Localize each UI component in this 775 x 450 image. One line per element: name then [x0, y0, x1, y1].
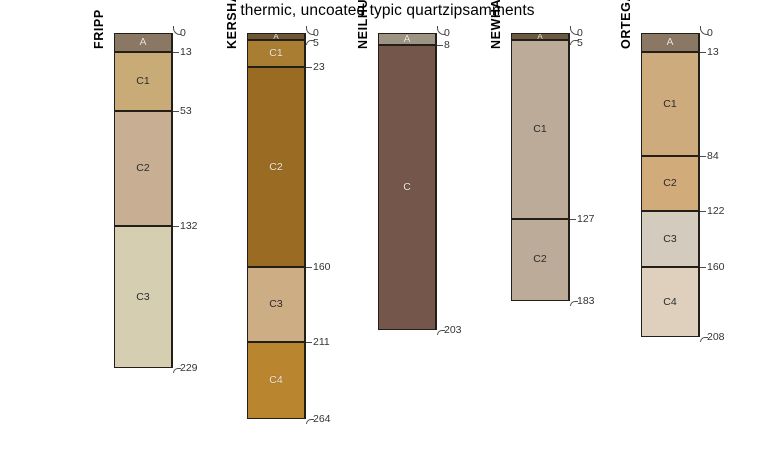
depth-tick [700, 267, 706, 268]
horizon-block[interactable]: C4 [247, 342, 305, 420]
horizon-label: A [403, 34, 410, 45]
horizon-block[interactable]: A [378, 33, 436, 45]
horizon-label: C2 [136, 163, 149, 174]
horizon-block[interactable]: C2 [641, 156, 699, 212]
horizon-label: C2 [269, 162, 282, 173]
horizon-block[interactable]: A [641, 33, 699, 52]
depth-tick-label: 53 [180, 106, 192, 117]
page-title: thermic, uncoated typic quartzipsamments [0, 2, 775, 20]
depth-axis [305, 33, 306, 419]
horizon-block[interactable]: A [247, 33, 305, 40]
depth-tick [173, 52, 179, 53]
series-name-label: ORTEGA [619, 0, 633, 49]
horizon-label: C3 [136, 292, 149, 303]
depth-tick-label: 13 [180, 47, 192, 58]
horizon-label: C1 [533, 124, 546, 135]
depth-tick-label: 5 [577, 38, 583, 49]
depth-tick-label: 0 [444, 28, 450, 39]
horizon-label: A [273, 33, 278, 40]
horizon-label: C4 [663, 297, 676, 308]
depth-tick-label: 23 [313, 62, 325, 73]
depth-axis [699, 33, 700, 337]
depth-tick-label: 208 [707, 332, 725, 343]
horizon-label: A [139, 37, 146, 48]
horizon-label: C3 [663, 234, 676, 245]
horizon-block[interactable]: C3 [247, 267, 305, 342]
depth-tick [437, 45, 443, 46]
depth-tick [306, 267, 312, 268]
depth-tick-label: 203 [444, 325, 462, 336]
depth-tick-label: 127 [577, 214, 595, 225]
horizon-label: C4 [269, 375, 282, 386]
depth-tick [173, 226, 179, 227]
horizon-label: C1 [663, 99, 676, 110]
depth-tick-label: 122 [707, 206, 725, 217]
depth-tick [700, 52, 706, 53]
horizon-block[interactable]: C1 [114, 52, 172, 111]
depth-tick-label: 5 [313, 38, 319, 49]
depth-axis [436, 33, 437, 330]
depth-tick-label: 160 [313, 262, 331, 273]
horizon-block[interactable]: C4 [641, 267, 699, 337]
horizon-block[interactable]: C2 [511, 219, 569, 301]
depth-tick-label: 8 [444, 40, 450, 51]
horizon-block[interactable]: C2 [114, 111, 172, 227]
depth-tick-label: 0 [707, 28, 713, 39]
series-name-label: NEWHAN [489, 0, 503, 49]
horizon-block[interactable]: C1 [511, 40, 569, 218]
depth-tick-label: 0 [180, 28, 186, 39]
horizon-block[interactable]: C3 [114, 226, 172, 368]
horizon-label: C1 [136, 76, 149, 87]
depth-tick-label: 13 [707, 47, 719, 58]
horizon-label: A [537, 33, 542, 40]
horizon-label: C2 [533, 254, 546, 265]
depth-axis [569, 33, 570, 301]
depth-tick [173, 111, 179, 112]
horizon-block[interactable]: C3 [641, 211, 699, 267]
horizon-block[interactable]: C [378, 45, 436, 330]
depth-tick [306, 67, 312, 68]
depth-tick-label: 84 [707, 151, 719, 162]
horizon-block[interactable]: C1 [641, 52, 699, 156]
depth-tick-label: 183 [577, 296, 595, 307]
horizon-label: C2 [663, 178, 676, 189]
horizon-label: A [666, 37, 673, 48]
depth-tick [570, 219, 576, 220]
horizon-block[interactable]: C1 [247, 40, 305, 66]
depth-tick-label: 264 [313, 414, 331, 425]
series-name-label: FRIPP [92, 9, 106, 49]
depth-axis [172, 33, 173, 368]
series-name-label: NEILHURST [356, 0, 370, 49]
horizon-label: C [403, 182, 411, 193]
depth-tick-label: 211 [313, 337, 330, 348]
horizon-block[interactable]: A [114, 33, 172, 52]
depth-tick-label: 132 [180, 221, 198, 232]
horizon-label: C3 [269, 299, 282, 310]
horizon-block[interactable]: C2 [247, 67, 305, 267]
depth-tick-label: 160 [707, 262, 725, 273]
horizon-label: C1 [269, 48, 282, 59]
depth-tick [700, 211, 706, 212]
horizon-block[interactable]: A [511, 33, 569, 40]
series-name-label: KERSHAW [225, 0, 239, 49]
depth-tick [306, 342, 312, 343]
depth-tick [700, 156, 706, 157]
depth-tick-label: 229 [180, 363, 198, 374]
